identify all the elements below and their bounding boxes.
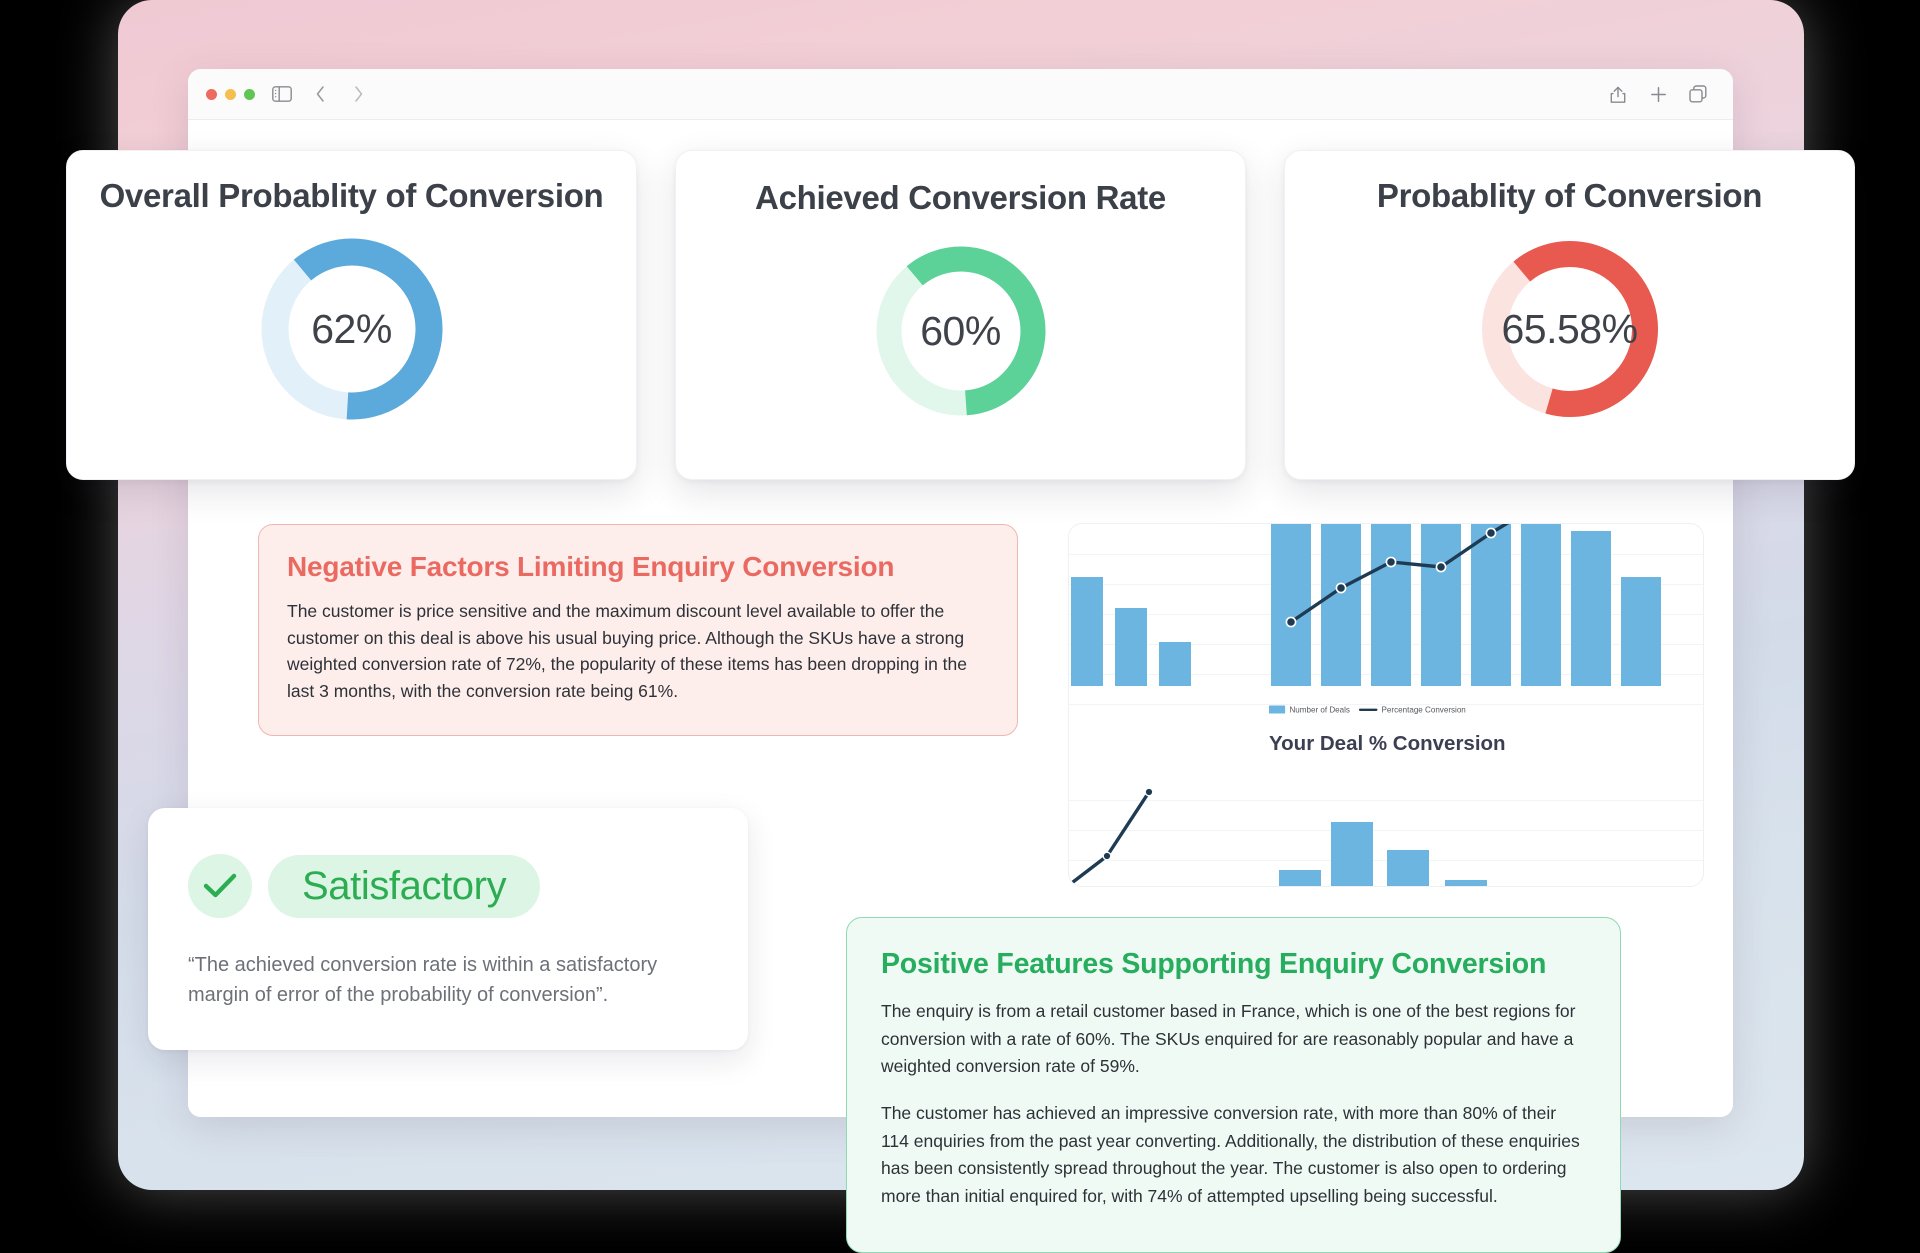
kpi-value: 60% bbox=[861, 231, 1061, 431]
copy-tabs-icon[interactable] bbox=[1687, 83, 1709, 105]
donut-chart-probability: 65.58% bbox=[1470, 229, 1670, 429]
positive-features-paragraph-2: The customer has achieved an impressive … bbox=[881, 1100, 1581, 1211]
satisfactory-quote: “The achieved conversion rate is within … bbox=[188, 950, 708, 1011]
window-traffic-lights bbox=[206, 89, 255, 100]
kpi-card-probability: Probablity of Conversion 65.58% bbox=[1284, 150, 1855, 480]
negative-factors-title: Negative Factors Limiting Enquiry Conver… bbox=[287, 551, 989, 583]
satisfactory-header: Satisfactory bbox=[188, 854, 708, 918]
status-badge: Satisfactory bbox=[268, 855, 540, 918]
positive-features-paragraph-1: The enquiry is from a retail customer ba… bbox=[881, 998, 1581, 1081]
kpi-title: Probablity of Conversion bbox=[1377, 177, 1762, 215]
check-icon bbox=[188, 854, 252, 918]
minimize-window-button[interactable] bbox=[225, 89, 236, 100]
chart-subtitle: Your Deal % Conversion bbox=[1269, 732, 1506, 756]
kpi-title: Achieved Conversion Rate bbox=[755, 179, 1166, 217]
positive-features-title: Positive Features Supporting Enquiry Con… bbox=[881, 948, 1586, 981]
legend-item-number-of-deals: Number of Deals bbox=[1269, 705, 1350, 714]
legend-label: Number of Deals bbox=[1289, 705, 1349, 714]
maximize-window-button[interactable] bbox=[244, 89, 255, 100]
negative-factors-body: The customer is price sensitive and the … bbox=[287, 598, 977, 704]
satisfactory-card: Satisfactory “The achieved conversion ra… bbox=[148, 808, 748, 1050]
legend-item-percentage-conversion: Percentage Conversion bbox=[1359, 705, 1466, 714]
chart-panel-lower-line bbox=[1069, 770, 1269, 887]
deal-conversion-chart-card: Number of Deals Percentage Conversion Yo… bbox=[1068, 523, 1704, 887]
browser-toolbar bbox=[188, 69, 1733, 120]
chart-legend: Number of Deals Percentage Conversion bbox=[1269, 705, 1466, 714]
kpi-value: 65.58% bbox=[1470, 229, 1670, 429]
chevron-right-icon[interactable] bbox=[347, 83, 369, 105]
screenshot-stage: Overall Probablity of Conversion 62% Ach… bbox=[0, 0, 1920, 1253]
toolbar-actions bbox=[1607, 83, 1709, 105]
bar-swatch-icon bbox=[1269, 705, 1285, 713]
positive-features-card: Positive Features Supporting Enquiry Con… bbox=[846, 917, 1621, 1253]
sidebar-icon[interactable] bbox=[271, 83, 293, 105]
legend-label: Percentage Conversion bbox=[1382, 705, 1466, 714]
line-swatch-icon bbox=[1359, 708, 1378, 710]
chevron-left-icon[interactable] bbox=[309, 83, 331, 105]
share-icon[interactable] bbox=[1607, 83, 1629, 105]
chart-panel-left-bars bbox=[1069, 523, 1269, 686]
kpi-value: 62% bbox=[252, 229, 452, 429]
kpi-card-overall-probability: Overall Probablity of Conversion 62% bbox=[66, 150, 637, 480]
donut-chart-achieved-rate: 60% bbox=[861, 231, 1061, 431]
negative-factors-card: Negative Factors Limiting Enquiry Conver… bbox=[258, 524, 1018, 736]
kpi-title: Overall Probablity of Conversion bbox=[100, 177, 604, 215]
plus-icon[interactable] bbox=[1647, 83, 1669, 105]
kpi-card-row: Overall Probablity of Conversion 62% Ach… bbox=[66, 150, 1855, 480]
close-window-button[interactable] bbox=[206, 89, 217, 100]
chart-panel-main-combo bbox=[1269, 523, 1704, 686]
donut-chart-overall-probability: 62% bbox=[252, 229, 452, 429]
kpi-card-achieved-rate: Achieved Conversion Rate 60% bbox=[675, 150, 1246, 480]
chart-panel-lower-bars bbox=[1269, 770, 1704, 887]
